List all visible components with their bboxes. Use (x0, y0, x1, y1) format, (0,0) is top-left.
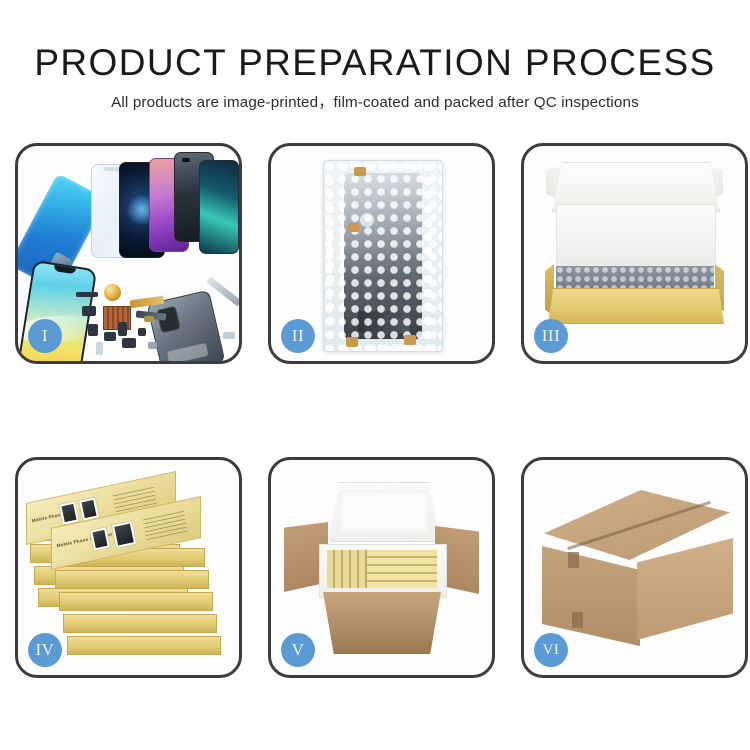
carton-tape-mark (572, 612, 583, 628)
small-part (118, 322, 127, 336)
small-part (82, 306, 96, 316)
step-panel-5: V (268, 457, 495, 678)
stacked-box (55, 570, 209, 589)
step-badge-1: I (28, 319, 62, 353)
step-badge-3: III (534, 319, 568, 353)
foam-cooler-lid (329, 482, 439, 542)
carton-tape-mark (568, 552, 579, 568)
step-badge-5: V (281, 633, 315, 667)
stacked-box (67, 636, 221, 655)
product-preparation-infographic: PRODUCT PREPARATION PROCESS All products… (0, 0, 750, 750)
carton-left-face (542, 546, 640, 646)
step-panel-6: VI (521, 457, 748, 678)
phone-teal-swirl (199, 160, 239, 254)
boxes-flat-group (367, 550, 437, 588)
boxes-upright-group (327, 550, 367, 588)
small-part (76, 292, 98, 297)
yellow-boxes-inside (327, 550, 437, 588)
tape-piece (346, 337, 358, 347)
gold-coil-part (104, 284, 121, 301)
step-panel-2: II (268, 143, 495, 364)
small-part (223, 332, 235, 339)
small-part (138, 328, 146, 336)
small-part (144, 316, 154, 322)
stacked-box (63, 614, 217, 633)
step-panel-3: III (521, 143, 748, 364)
carton-front-panel (315, 592, 449, 654)
tape-piece (348, 223, 359, 232)
wrapped-part (344, 173, 422, 339)
white-foam-sheet (556, 204, 716, 274)
tape-piece (404, 335, 416, 345)
bubble-wrap-bag (323, 160, 443, 352)
small-part (148, 342, 157, 349)
step-panel-4: Mobile Phone Spare Parts Mobile Phone Sp… (15, 457, 242, 678)
step-badge-4: IV (28, 633, 62, 667)
small-part (96, 342, 103, 355)
stacked-box (59, 592, 213, 611)
yellow-box-front (548, 288, 724, 324)
step-badge-2: II (281, 319, 315, 353)
carton-right-face (637, 538, 733, 640)
step-panel-1: I (15, 143, 242, 364)
small-part (104, 332, 116, 341)
small-part (88, 324, 98, 336)
tape-piece (354, 167, 366, 176)
small-part (122, 338, 136, 348)
steps-grid: I II (0, 0, 750, 750)
step-badge-6: VI (534, 633, 568, 667)
